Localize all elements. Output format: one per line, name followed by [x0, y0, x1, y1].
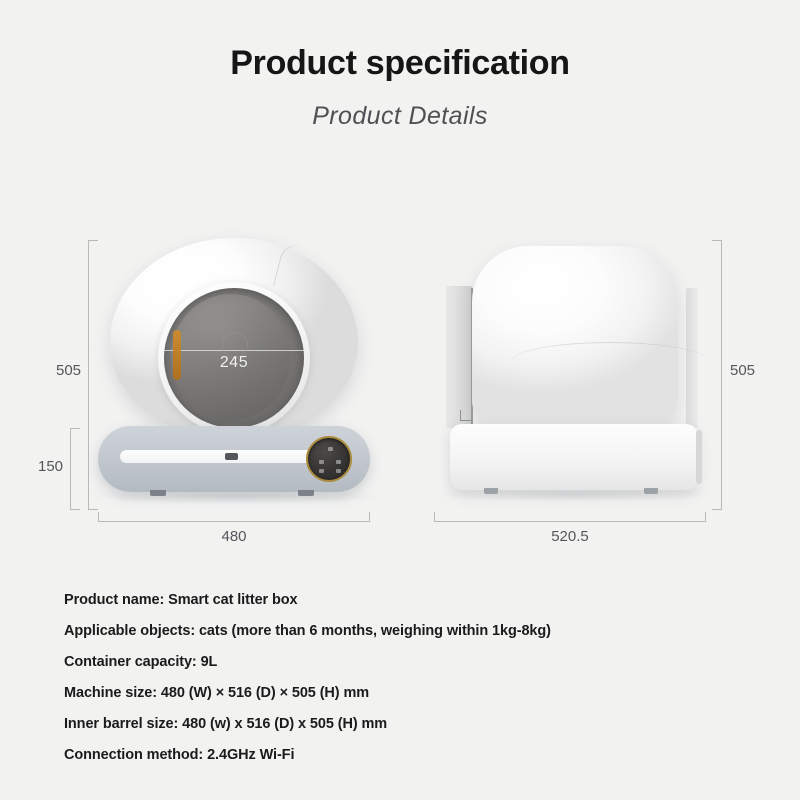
side-base-drawer: [450, 424, 698, 490]
front-base: [98, 426, 370, 492]
base-port-icon: [225, 453, 238, 460]
bracket-front-base-height: [70, 428, 80, 510]
front-view-shadow: [90, 488, 382, 504]
spec-item-product-name: Product name: Smart cat litter box: [64, 592, 764, 608]
side-body-edge: [471, 288, 473, 428]
dim-label-side-depth: 520.5: [434, 528, 706, 545]
page-title: Product specification: [0, 44, 800, 83]
drum-hub: [222, 332, 248, 358]
side-view-product: [438, 238, 710, 510]
side-body-seam-line: [512, 342, 708, 361]
spec-item-inner-barrel-size: Inner barrel size: 480 (w) x 516 (D) x 5…: [64, 716, 764, 732]
dim-label-side-height: 505: [730, 362, 755, 379]
bracket-front-width: [98, 512, 370, 522]
side-back-bracket-mark: [460, 410, 471, 421]
spec-item-applicable-objects: Applicable objects: cats (more than 6 mo…: [64, 623, 764, 639]
front-view-product: 245: [98, 238, 370, 510]
spec-item-connection-method: Connection method: 2.4GHz Wi-Fi: [64, 747, 764, 763]
shell-seam-line: [273, 241, 328, 297]
control-icon-power: [328, 447, 333, 451]
front-foot-left: [150, 490, 166, 496]
side-back-panel: [446, 286, 472, 428]
spec-item-container-capacity: Container capacity: 9L: [64, 654, 764, 670]
control-icon-empty: [336, 460, 341, 464]
control-icon-mode: [319, 469, 324, 473]
specification-list: Product name: Smart cat litter box Appli…: [64, 592, 764, 778]
drum-value-label: 245: [164, 354, 304, 372]
drum-disc: [171, 294, 291, 420]
bracket-side-height: [712, 240, 722, 510]
base-drawer-handle: [120, 450, 332, 463]
bracket-front-height: [88, 240, 98, 510]
side-view-shadow: [438, 486, 710, 502]
drum-horizon-line: [164, 350, 304, 351]
front-foot-right: [298, 490, 314, 496]
side-right-panel: [686, 288, 698, 428]
front-shell: [110, 238, 358, 438]
control-panel[interactable]: [306, 436, 352, 482]
dim-label-front-height: 505: [56, 362, 81, 379]
page-subtitle: Product Details: [0, 102, 800, 131]
control-icon-clean: [319, 460, 324, 464]
side-body: [472, 246, 678, 430]
bracket-side-depth: [434, 512, 706, 522]
dim-label-front-width: 480: [98, 528, 370, 545]
side-foot-left: [484, 488, 498, 494]
drum-opening: 245: [164, 288, 304, 428]
side-base-edge: [696, 430, 702, 484]
dim-label-front-base-height: 150: [38, 458, 63, 475]
side-foot-right: [644, 488, 658, 494]
drum-accent-strip: [173, 330, 181, 380]
drum-outer-ring: [158, 282, 310, 434]
control-icon-reset: [336, 469, 341, 473]
spec-item-machine-size: Machine size: 480 (W) × 516 (D) × 505 (H…: [64, 685, 764, 701]
